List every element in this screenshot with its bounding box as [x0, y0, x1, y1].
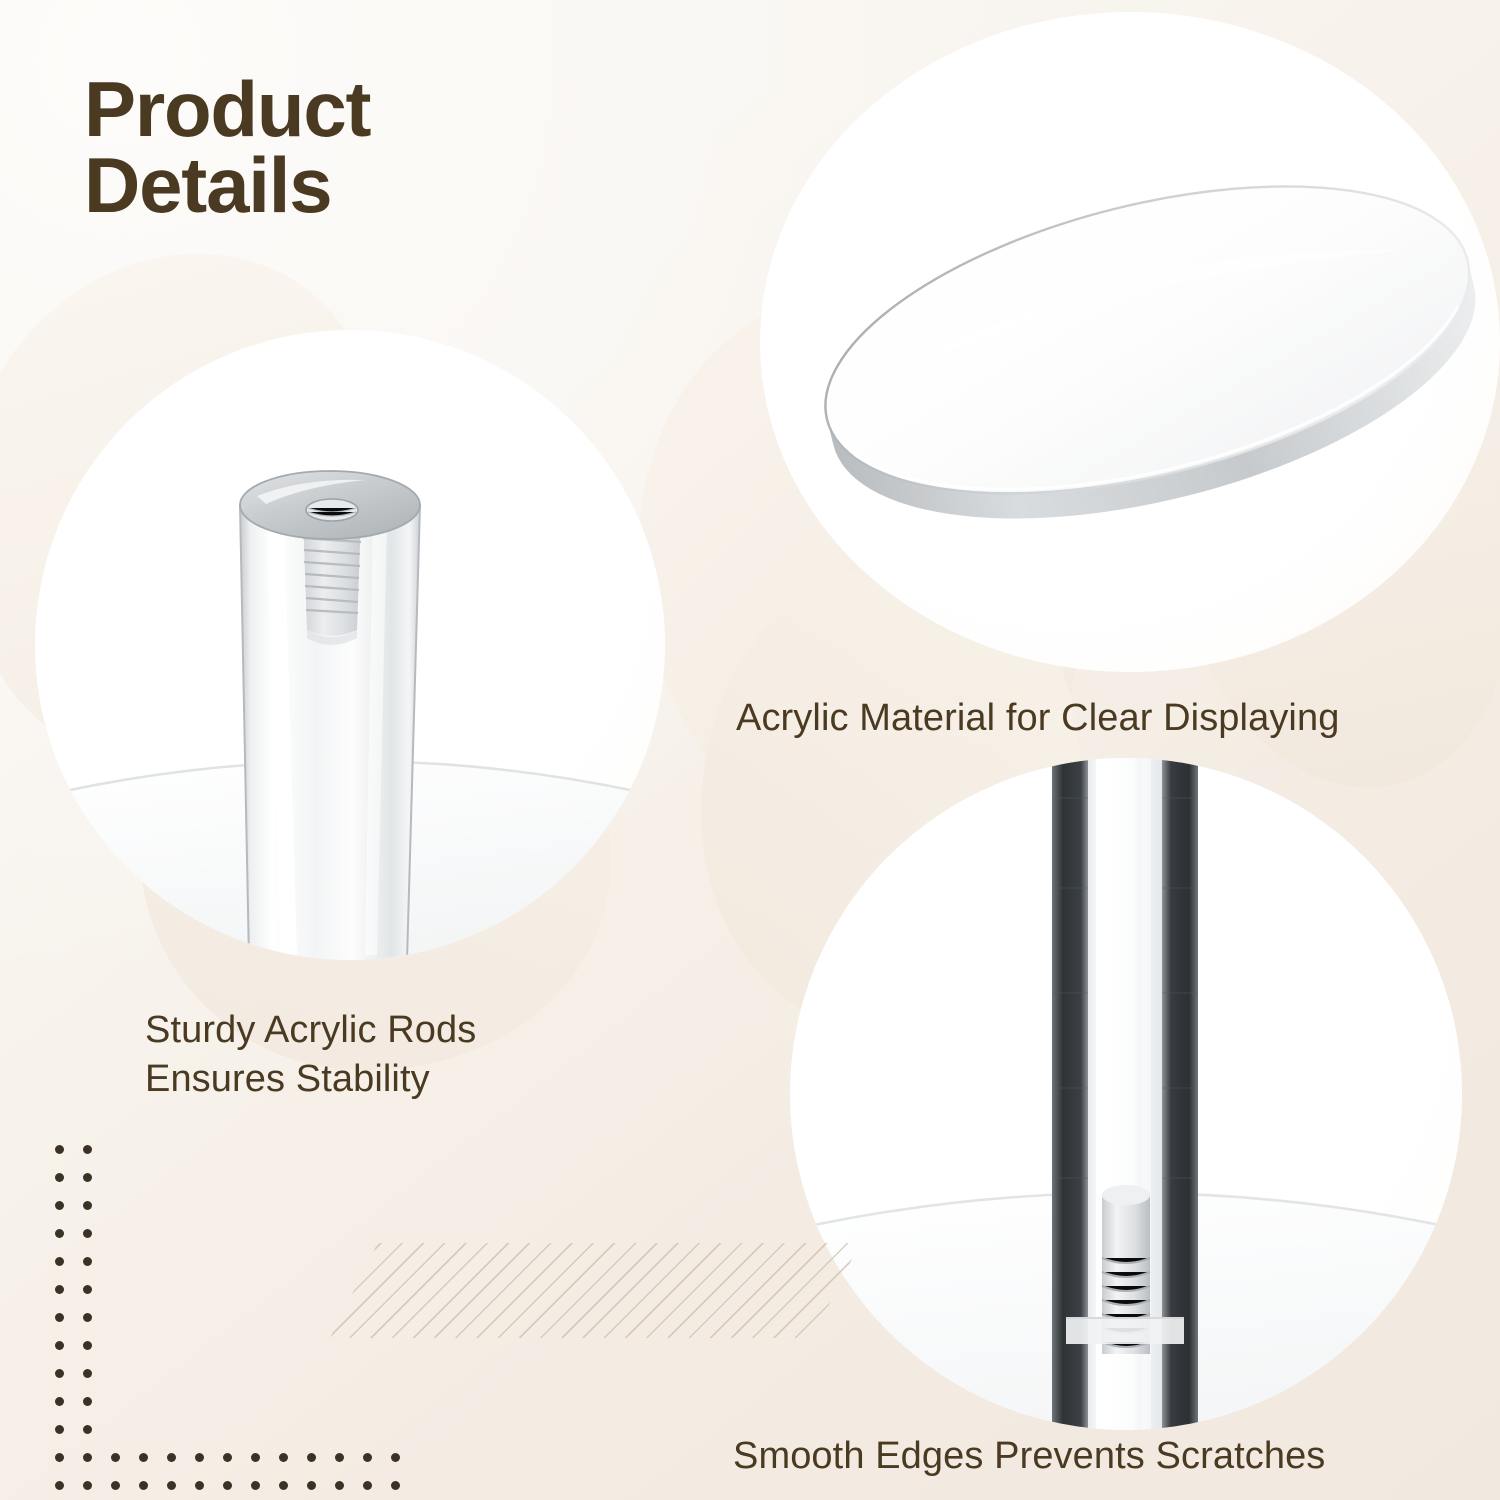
dot-grid [55, 1145, 455, 1475]
dot-grid-dot [391, 1481, 400, 1490]
dot-grid-dot [363, 1453, 372, 1462]
dot-grid-dot [195, 1481, 204, 1490]
dot-grid-dot [307, 1453, 316, 1462]
dot-grid-dot [55, 1453, 64, 1462]
caption-smooth-edges: Smooth Edges Prevents Scratches [733, 1432, 1325, 1481]
dot-grid-dot [335, 1453, 344, 1462]
dot-grid-dot [307, 1481, 316, 1490]
dot-grid-dot [55, 1229, 64, 1238]
dot-grid-dot [83, 1397, 92, 1406]
acrylic-rod-screw-illustration [790, 758, 1462, 1430]
caption-acrylic-material: Acrylic Material for Clear Displaying [736, 694, 1339, 743]
dot-grid-dot [55, 1425, 64, 1434]
dot-grid-dot [55, 1313, 64, 1322]
dot-grid-dot [83, 1229, 92, 1238]
caption-sturdy-rods-line-2: Ensures Stability [145, 1055, 476, 1104]
dot-grid-dot [83, 1201, 92, 1210]
dot-grid-dot [223, 1481, 232, 1490]
dot-grid-dot [139, 1481, 148, 1490]
page-title-line-1: Product [84, 72, 604, 148]
dot-grid-dot [111, 1453, 120, 1462]
dot-grid-dot [279, 1481, 288, 1490]
acrylic-rod-illustration [35, 330, 665, 960]
dot-grid-dot [279, 1453, 288, 1462]
caption-sturdy-rods: Sturdy Acrylic Rods Ensures Stability [145, 1006, 476, 1103]
page-title: Product Details [84, 72, 604, 223]
feature-image-sturdy-rods [35, 330, 665, 960]
dot-grid-dot [167, 1481, 176, 1490]
feature-image-acrylic-material [760, 12, 1500, 672]
acrylic-disc-illustration [760, 12, 1500, 672]
dot-grid-dot [83, 1481, 92, 1490]
dot-grid-dot [391, 1453, 400, 1462]
dot-grid-dot [83, 1425, 92, 1434]
dot-grid-dot [55, 1369, 64, 1378]
dot-grid-dot [83, 1145, 92, 1154]
caption-smooth-edges-line-1: Smooth Edges Prevents Scratches [733, 1432, 1325, 1481]
dot-grid-dot [223, 1453, 232, 1462]
dot-grid-dot [83, 1257, 92, 1266]
dot-grid-dot [55, 1173, 64, 1182]
dot-grid-dot [83, 1369, 92, 1378]
dot-grid-dot [195, 1453, 204, 1462]
dot-grid-dot [111, 1481, 120, 1490]
dot-grid-dot [251, 1453, 260, 1462]
dot-grid-dot [83, 1285, 92, 1294]
caption-sturdy-rods-line-1: Sturdy Acrylic Rods [145, 1006, 476, 1055]
dot-grid-dot [139, 1453, 148, 1462]
dot-grid-dot [335, 1481, 344, 1490]
dot-grid-dot [167, 1453, 176, 1462]
caption-acrylic-material-line-1: Acrylic Material for Clear Displaying [736, 694, 1339, 743]
dot-grid-dot [55, 1397, 64, 1406]
dot-grid-dot [55, 1145, 64, 1154]
dot-grid-dot [55, 1481, 64, 1490]
dot-grid-dot [55, 1257, 64, 1266]
feature-image-smooth-edges [790, 758, 1462, 1430]
dot-grid-dot [363, 1481, 372, 1490]
dot-grid-dot [251, 1481, 260, 1490]
dot-grid-dot [55, 1341, 64, 1350]
page-title-line-2: Details [84, 148, 604, 224]
dot-grid-dot [83, 1173, 92, 1182]
dot-grid-dot [83, 1313, 92, 1322]
dot-grid-dot [55, 1201, 64, 1210]
dot-grid-dot [83, 1341, 92, 1350]
dot-grid-dot [55, 1285, 64, 1294]
dot-grid-dot [83, 1453, 92, 1462]
product-details-infographic: Product Details Sturdy Acrylic Rods Ensu… [0, 0, 1500, 1500]
